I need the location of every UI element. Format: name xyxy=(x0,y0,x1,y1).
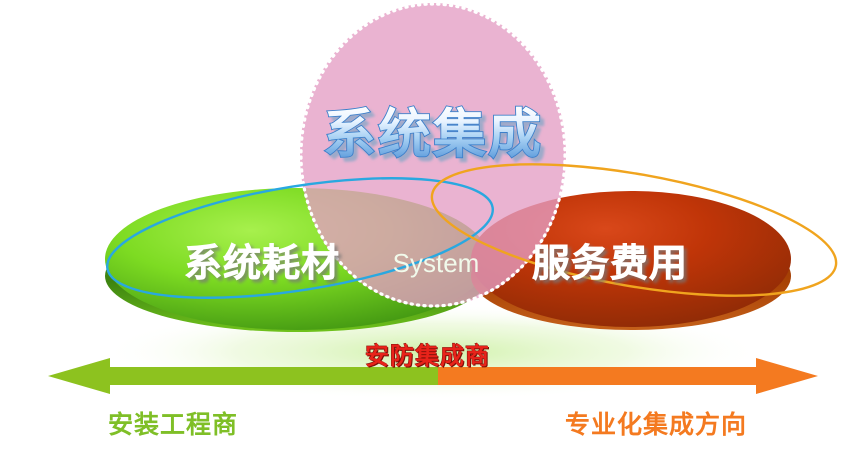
center-overlap-label: System xyxy=(393,248,480,278)
venn-diagram-svg: System 系统集成 系统耗材 服务费用 xyxy=(0,0,865,450)
left-circle-label-group: 系统耗材 xyxy=(184,241,340,285)
axis-arrow-left-bar xyxy=(108,367,438,385)
diagram-canvas: System 系统集成 系统耗材 服务费用 安防集成商 安装工程商 专业化集成方… xyxy=(0,0,865,450)
axis-arrow-right-bar xyxy=(438,367,758,385)
circle-label-top: 系统集成 xyxy=(323,104,543,165)
circle-label-left: 系统耗材 xyxy=(184,241,340,285)
axis-arrow-right-head xyxy=(756,358,818,394)
right-circle-label-group: 服务费用 xyxy=(532,241,688,285)
circle-label-right: 服务费用 xyxy=(532,241,688,285)
axis-arrow-left-head xyxy=(48,358,110,394)
top-circle-label-group: 系统集成 xyxy=(323,104,543,165)
